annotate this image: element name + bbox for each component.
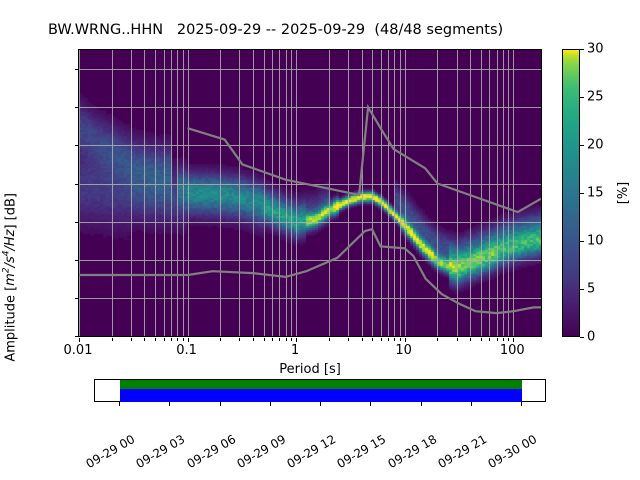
x-tick — [457, 338, 458, 341]
coverage-tick-label: 09-29 15 — [335, 432, 389, 471]
coverage-tick — [370, 402, 371, 406]
x-tick — [394, 338, 395, 341]
ppsd-axes — [78, 49, 542, 337]
x-tick — [164, 338, 165, 341]
y-tick — [75, 107, 79, 108]
x-tick — [177, 338, 178, 341]
y-tick — [75, 145, 79, 146]
x-tick — [296, 338, 297, 342]
coverage-bar-blue — [120, 389, 522, 402]
noise-model-nlnm — [79, 229, 541, 313]
colorbar-tick — [580, 241, 584, 242]
x-tick — [400, 338, 401, 341]
coverage-bar-green — [120, 380, 522, 389]
coverage-tick-label: 09-29 21 — [435, 432, 489, 471]
coverage-tick-label: 09-29 18 — [385, 432, 439, 471]
colorbar-tick — [580, 145, 584, 146]
colorbar-title: [%] — [616, 182, 631, 205]
colorbar-tick-label: 15 — [587, 186, 604, 201]
coverage-tick — [320, 402, 321, 406]
x-tick — [264, 338, 265, 341]
x-tick — [253, 338, 254, 341]
x-tick — [291, 338, 292, 341]
coverage-tick — [169, 402, 170, 406]
page-title: BW.WRNG..HHN 2025-09-29 -- 2025-09-29 (4… — [48, 22, 503, 38]
colorbar-tick-label: 30 — [587, 42, 604, 57]
data-coverage-axes — [94, 379, 546, 402]
x-tick — [470, 338, 471, 341]
x-tick — [155, 338, 156, 341]
y-tick — [75, 184, 79, 185]
x-tick-label: 0.01 — [64, 343, 93, 358]
y-tick — [75, 69, 79, 70]
x-tick — [131, 338, 132, 341]
x-tick — [405, 338, 406, 342]
x-tick-label: 0.1 — [176, 343, 197, 358]
x-tick — [497, 338, 498, 341]
coverage-tick — [421, 402, 422, 406]
x-tick — [183, 338, 184, 341]
x-tick — [286, 338, 287, 341]
x-tick — [513, 338, 514, 342]
colorbar-tick-label: 5 — [587, 282, 595, 297]
colorbar-tick-label: 10 — [587, 234, 604, 249]
x-tick — [144, 338, 145, 341]
colorbar-tick — [580, 97, 584, 98]
coverage-tick — [119, 402, 120, 406]
x-tick — [79, 338, 80, 342]
x-tick — [362, 338, 363, 341]
y-axis-title-text: Amplitude [m2/s4/Hz] [dB] — [3, 193, 18, 362]
x-tick — [112, 338, 113, 341]
y-tick — [75, 260, 79, 261]
ppsd-figure: BW.WRNG..HHN 2025-09-29 -- 2025-09-29 (4… — [0, 0, 640, 480]
colorbar-tick — [580, 193, 584, 194]
x-tick — [348, 338, 349, 341]
coverage-tick — [270, 402, 271, 406]
x-tick-label: 1 — [291, 343, 299, 358]
noise-model-curves — [79, 50, 541, 336]
y-axis-title: Amplitude [m2/s4/Hz] [dB] — [2, 193, 18, 362]
x-tick — [481, 338, 482, 341]
x-tick — [437, 338, 438, 341]
x-tick — [372, 338, 373, 341]
coverage-tick-label: 09-29 03 — [134, 432, 188, 471]
noise-model-nhnm — [188, 107, 541, 212]
y-tick — [75, 222, 79, 223]
x-tick — [171, 338, 172, 341]
x-tick — [489, 338, 490, 341]
x-axis-title: Period [s] — [279, 362, 341, 377]
colorbar-tick — [580, 289, 584, 290]
coverage-tick-label: 09-29 00 — [84, 432, 138, 471]
x-tick — [381, 338, 382, 341]
x-tick-label: 10 — [395, 343, 412, 358]
coverage-tick — [521, 402, 522, 406]
colorbar — [562, 49, 580, 337]
x-tick — [188, 338, 189, 342]
coverage-tick — [220, 402, 221, 406]
x-tick — [329, 338, 330, 341]
coverage-tick — [471, 402, 472, 406]
y-tick — [75, 298, 79, 299]
colorbar-tick-label: 20 — [587, 138, 604, 153]
ppsd-plot-area — [79, 50, 541, 336]
x-tick — [239, 338, 240, 341]
x-tick-label: 100 — [500, 343, 525, 358]
coverage-tick-label: 09-29 06 — [184, 432, 238, 471]
x-tick — [272, 338, 273, 341]
x-tick — [508, 338, 509, 341]
coverage-tick-label: 09-29 09 — [234, 432, 288, 471]
x-tick — [220, 338, 221, 341]
x-tick — [388, 338, 389, 341]
x-tick — [503, 338, 504, 341]
y-tick — [75, 336, 79, 337]
coverage-tick-label: 09-29 12 — [285, 432, 339, 471]
colorbar-tick — [580, 337, 584, 338]
colorbar-tick-label: 25 — [587, 90, 604, 105]
colorbar-tick-label: 0 — [587, 330, 595, 345]
coverage-tick-label: 09-30 00 — [486, 432, 540, 471]
colorbar-tick — [580, 49, 584, 50]
x-tick — [279, 338, 280, 341]
